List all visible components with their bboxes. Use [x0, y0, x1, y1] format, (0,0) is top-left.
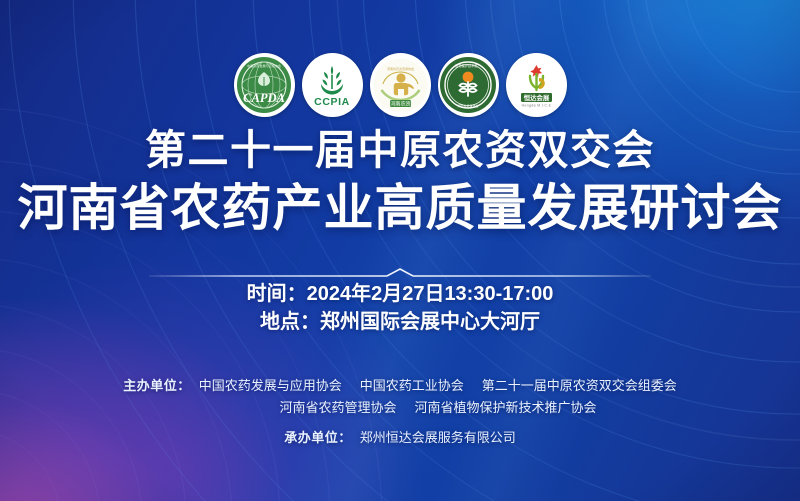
ccpia-logo: CCPIA — [302, 53, 363, 117]
host-label: 承办单位： — [284, 427, 352, 449]
organizer-item: 河南省植物保护新技术推广协会 — [415, 397, 597, 419]
event-poster: CAPDA 中国农药发展与应用协会 CCPIA — [0, 0, 800, 501]
svg-text:植物保护技术推广: 植物保护技术推广 — [455, 63, 481, 68]
sponsor-logo-row: CAPDA 中国农药发展与应用协会 CCPIA — [0, 53, 800, 117]
decorative-divider — [145, 266, 655, 280]
organizer-row-1: 主办单位： 中国农药发展与应用协会 中国农药工业协会 第二十一届中原农资双交会组… — [0, 375, 800, 397]
event-place-row: 地点：郑州国际会展中心大河厅 — [0, 308, 800, 336]
event-title-line2: 河南省农药产业高质量发展研讨会 — [0, 179, 800, 237]
event-time-row: 时间：2024年2月27日13:30-17:00 — [0, 280, 800, 308]
svg-text:河南农资: 河南农资 — [390, 99, 411, 107]
footer-spacer — [0, 419, 800, 427]
event-time-value: 2024年2月27日13:30-17:00 — [307, 283, 554, 305]
capda-logo: CAPDA 中国农药发展与应用协会 — [234, 53, 295, 117]
organizer-item: 中国农药工业协会 — [360, 375, 464, 397]
event-meta: 时间：2024年2月27日13:30-17:00 地点：郑州国际会展中心大河厅 — [0, 280, 800, 336]
organizer-label: 主办单位： — [123, 375, 191, 397]
footer-credits: 主办单位： 中国农药发展与应用协会 中国农药工业协会 第二十一届中原农资双交会组… — [0, 375, 800, 449]
organizer-item: 中国农药发展与应用协会 — [199, 375, 342, 397]
plant-protection-logo: 植物保护技术推广 河南省植保协会 — [438, 53, 499, 117]
svg-text:CAPDA: CAPDA — [243, 91, 285, 105]
henan-nongzi-logo: 河南农资 河南省农资流通协会 — [370, 53, 431, 117]
svg-text:河南省农资流通协会: 河南省农资流通协会 — [386, 66, 413, 71]
svg-text:恒达会展: 恒达会展 — [523, 92, 549, 101]
hengda-mice-logo: 恒达会展 Hengda M.I.C.E — [506, 53, 567, 117]
organizer-list-2: 河南省农药管理协会 河南省植物保护新技术推广协会 — [279, 397, 596, 419]
host-row: 承办单位： 郑州恒达会展服务有限公司 — [0, 427, 800, 449]
event-title-line1: 第二十一届中原农资双交会 — [0, 126, 800, 174]
organizer-row-2: 河南省农药管理协会 河南省植物保护新技术推广协会 — [0, 397, 800, 419]
svg-text:CCPIA: CCPIA — [314, 96, 350, 108]
organizer-item: 第二十一届中原农资双交会组委会 — [482, 375, 677, 397]
event-place-label: 地点： — [260, 311, 320, 333]
event-place-value: 郑州国际会展中心大河厅 — [320, 311, 540, 333]
event-time-label: 时间： — [247, 283, 307, 305]
organizer-item: 河南省农药管理协会 — [279, 397, 396, 419]
organizer-list-1: 中国农药发展与应用协会 中国农药工业协会 第二十一届中原农资双交会组委会 — [199, 375, 677, 397]
svg-text:河南省植保协会: 河南省植保协会 — [457, 103, 478, 108]
svg-text:Hengda M.I.C.E: Hengda M.I.C.E — [521, 103, 551, 107]
svg-text:中国农药发展与应用协会: 中国农药发展与应用协会 — [247, 63, 281, 68]
host-value: 郑州恒达会展服务有限公司 — [360, 427, 516, 449]
title-block: 第二十一届中原农资双交会 河南省农药产业高质量发展研讨会 — [0, 126, 800, 237]
